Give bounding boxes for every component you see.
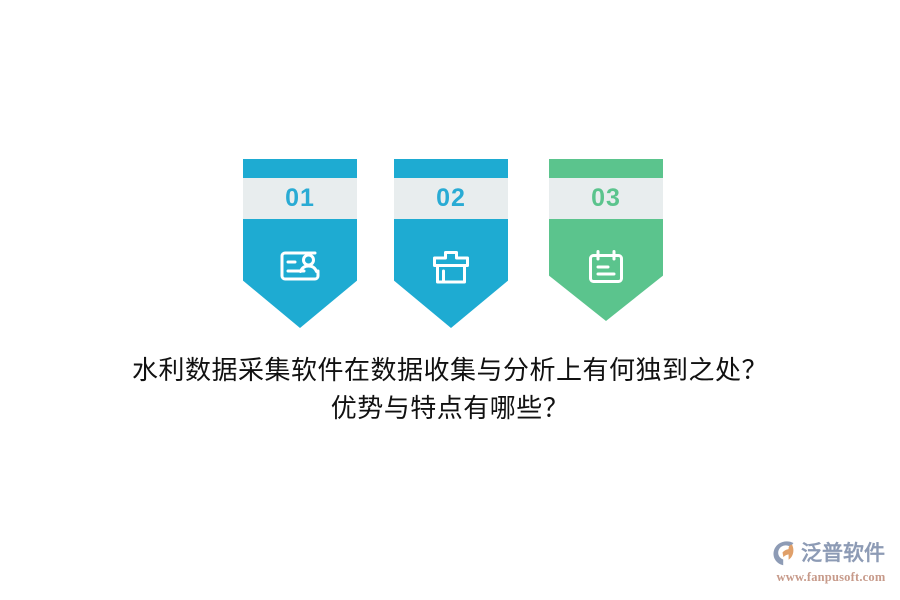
brand-url: www.fanpusoft.com	[770, 570, 892, 585]
banner-item-03[interactable]: 03	[549, 159, 663, 321]
banner-number: 02	[436, 186, 466, 211]
banner-number-band: 02	[394, 178, 508, 219]
banner-number: 01	[285, 186, 315, 211]
fanpu-logo-mark-icon	[770, 539, 798, 567]
page-title: 水利数据采集软件在数据收集与分析上有何独到之处？ 优势与特点有哪些？	[0, 352, 900, 428]
banner-group: 01 02	[243, 159, 665, 331]
store-shop-icon	[394, 249, 508, 285]
banner-number-band: 01	[243, 178, 357, 219]
slide-canvas: 01 02	[0, 0, 900, 600]
id-card-contact-icon	[243, 249, 357, 283]
brand-name: 泛普软件	[801, 543, 885, 564]
page-title-line-2: 优势与特点有哪些？	[0, 390, 900, 428]
brand-logo[interactable]: 泛普软件 www.fanpusoft.com	[770, 538, 892, 586]
brand-logo-row: 泛普软件	[770, 538, 892, 568]
calendar-note-icon	[549, 249, 663, 285]
page-title-line-1: 水利数据采集软件在数据收集与分析上有何独到之处？	[0, 352, 900, 390]
banner-item-02[interactable]: 02	[394, 159, 508, 328]
banner-number: 03	[591, 186, 621, 211]
banner-item-01[interactable]: 01	[243, 159, 357, 328]
banner-number-band: 03	[549, 178, 663, 219]
